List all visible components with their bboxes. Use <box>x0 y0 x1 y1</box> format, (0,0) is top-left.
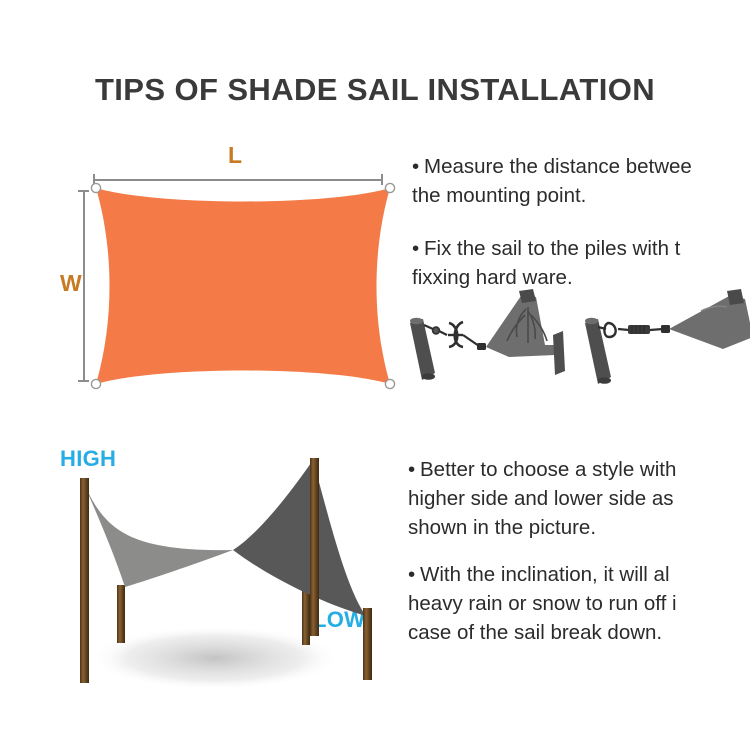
post-high-right <box>310 458 319 636</box>
infographic-page: TIPS OF SHADE SAIL INSTALLATION L W •Mea… <box>0 0 750 750</box>
grommet-top-left <box>91 183 100 192</box>
tip-text: case of the sail break down. <box>408 621 662 644</box>
tip-measure-distance: •Measure the distance betwee the mountin… <box>412 152 692 210</box>
tip-text: the mounting point. <box>412 184 586 207</box>
webbing-strap <box>727 289 744 305</box>
post-rear-left <box>117 585 125 643</box>
bullet-icon: • <box>408 455 420 484</box>
sail-corner <box>486 289 555 357</box>
tip-fix-sail-to-piles: •Fix the sail to the piles with t fixxin… <box>412 234 680 292</box>
tip-line: •With the inclination, it will al <box>408 560 677 589</box>
grommet-bottom-right <box>385 379 394 388</box>
bullet-icon: • <box>408 560 420 589</box>
tip-text: heavy rain or snow to run off i <box>408 592 677 615</box>
sail-corner <box>669 289 750 349</box>
carabiner-icon <box>598 323 629 337</box>
clip-icon <box>477 343 486 350</box>
page-title: TIPS OF SHADE SAIL INSTALLATION <box>0 72 750 108</box>
grommet-top-right <box>385 183 394 192</box>
tip-line: •Fix the sail to the piles with t <box>412 234 680 263</box>
tip-inclination-runoff: •With the inclination, it will al heavy … <box>408 560 677 647</box>
tip-line: shown in the picture. <box>408 513 676 542</box>
tip-text: With the inclination, it will al <box>420 563 670 586</box>
bullet-icon: • <box>412 234 424 263</box>
orange-sail-shape <box>88 180 398 392</box>
scene-drawing <box>30 430 420 710</box>
tip-text: Better to choose a style with <box>420 458 676 481</box>
tip-line: case of the sail break down. <box>408 618 677 647</box>
tip-line: higher side and lower side as <box>408 484 676 513</box>
post-low-right <box>363 608 372 680</box>
fixing-hardware-illustrations <box>405 285 750 395</box>
turnbuckle-body <box>628 325 650 334</box>
tip-text: Fix the sail to the piles with t <box>424 237 680 260</box>
tip-line: the mounting point. <box>412 181 692 210</box>
tip-line: •Better to choose a style with <box>408 455 676 484</box>
post-high-left <box>80 478 89 683</box>
bullet-icon: • <box>412 152 424 181</box>
tip-line: heavy rain or snow to run off i <box>408 589 677 618</box>
clip-icon <box>661 325 670 333</box>
hardware-turnbuckle-illustration <box>405 285 575 395</box>
length-label: L <box>228 142 242 169</box>
bracket-icon <box>553 331 565 375</box>
webbing-strap <box>519 289 536 303</box>
tip-line: •Measure the distance betwee <box>412 152 692 181</box>
grommet-bottom-left <box>91 379 100 388</box>
hardware-carabiner-illustration <box>573 285 750 395</box>
tip-text: higher side and lower side as <box>408 487 674 510</box>
tip-text: Measure the distance betwee <box>424 155 692 178</box>
shade-sail-dimension-diagram: L W <box>60 140 405 400</box>
sail-light <box>83 482 233 587</box>
sail-dark <box>233 460 366 616</box>
turnbuckle-icon <box>424 322 479 347</box>
tip-choose-style: •Better to choose a style with higher si… <box>408 455 676 542</box>
inclined-shade-sail-scene: HIGH LOW <box>30 430 420 710</box>
tip-text: shown in the picture. <box>408 516 596 539</box>
